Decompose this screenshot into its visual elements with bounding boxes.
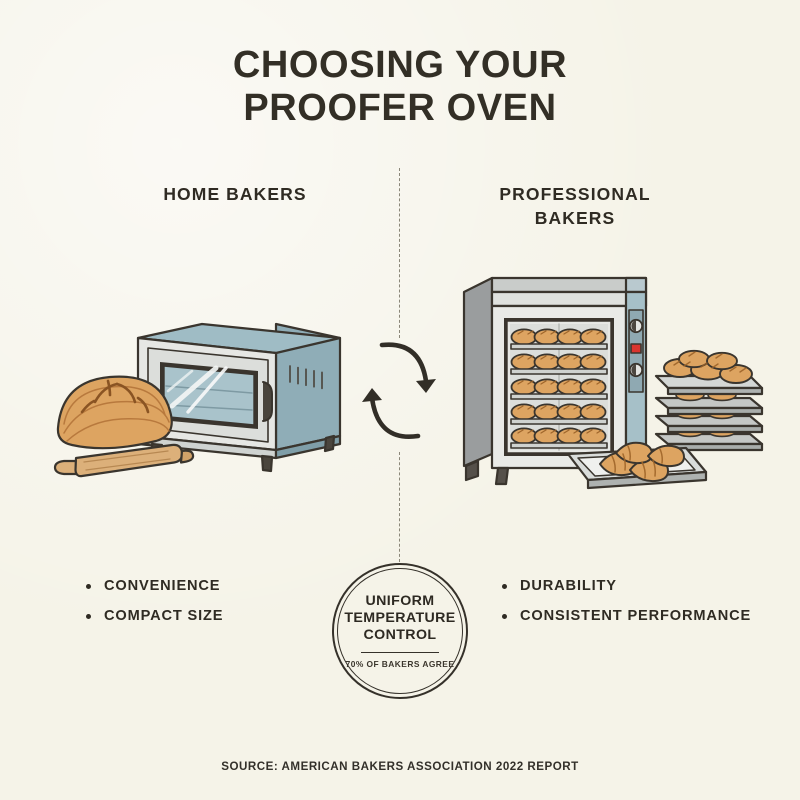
infographic-canvas: CHOOSING YOUR PROOFER OVEN HOME BAKERS P… (0, 0, 800, 800)
badge-title-line-2: TEMPERATURE (344, 610, 455, 627)
title-line-1: CHOOSING YOUR (0, 44, 800, 87)
column-heading-home: HOME BAKERS (90, 183, 380, 207)
list-item: DURABILITY (500, 578, 770, 594)
vertical-dashed-divider-top (399, 168, 400, 338)
list-item: COMPACT SIZE (84, 608, 334, 624)
title-line-2: PROOFER OVEN (0, 87, 800, 130)
badge-title-line-3: CONTROL (364, 627, 437, 644)
cycle-arrows-illustration (348, 336, 452, 446)
professional-oven-illustration (450, 258, 790, 498)
badge-divider-rule (361, 652, 439, 653)
page-title: CHOOSING YOUR PROOFER OVEN (0, 44, 800, 129)
benefits-list-professional: DURABILITY CONSISTENT PERFORMANCE (500, 578, 770, 638)
arrow-bottom-head (362, 388, 382, 402)
list-item: CONVENIENCE (84, 578, 334, 594)
arrow-top-path (382, 345, 426, 381)
column-heading-professional-line-2: BAKERS (430, 207, 720, 231)
list-item: CONSISTENT PERFORMANCE (500, 608, 770, 624)
badge-content: UNIFORM TEMPERATURE CONTROL 70% OF BAKER… (332, 563, 468, 699)
arrow-top-head (416, 379, 436, 393)
benefits-list-home: CONVENIENCE COMPACT SIZE (84, 578, 334, 638)
arrow-bottom-path (372, 398, 418, 437)
column-heading-professional-line-1: PROFESSIONAL (430, 183, 720, 207)
badge-statistic: 70% OF BAKERS AGREE (346, 659, 455, 669)
vertical-dashed-divider-bottom (399, 452, 400, 562)
home-oven-illustration (40, 278, 370, 493)
source-attribution: SOURCE: AMERICAN BAKERS ASSOCIATION 2022… (0, 760, 800, 773)
status-badge: UNIFORM TEMPERATURE CONTROL 70% OF BAKER… (332, 563, 468, 699)
badge-title-line-1: UNIFORM (366, 593, 435, 610)
column-heading-professional: PROFESSIONAL BAKERS (430, 183, 720, 230)
